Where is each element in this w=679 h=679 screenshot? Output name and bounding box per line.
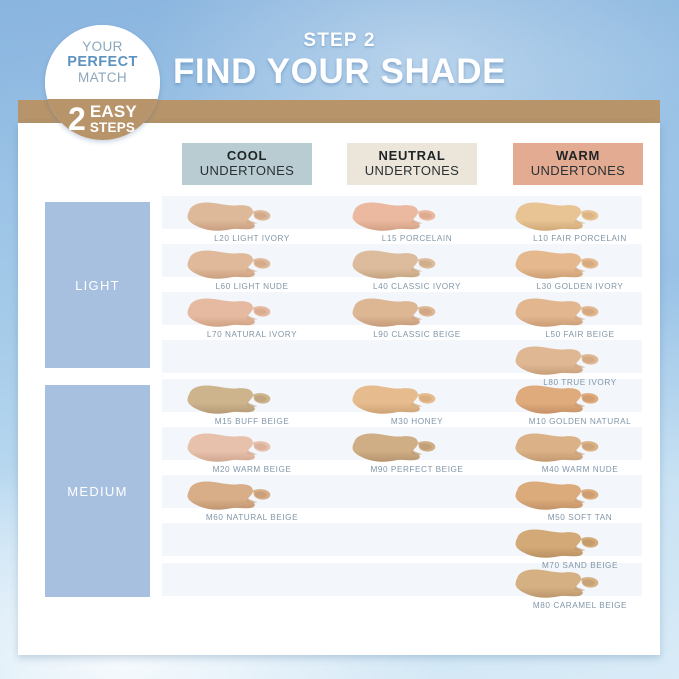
shade-swatch-icon	[347, 431, 439, 465]
shade-label: M15 BUFF BEIGE	[172, 417, 332, 426]
shade-swatch-icon	[510, 344, 602, 378]
shade-swatch-icon	[182, 200, 274, 234]
shade-label: M10 GOLDEN NATURAL	[500, 417, 660, 426]
shade-label: M30 HONEY	[337, 417, 497, 426]
shade-cell[interactable]: M90 PERFECT BEIGE	[337, 431, 497, 481]
shade-swatch-icon	[510, 527, 602, 561]
depth-group-light-label: LIGHT	[75, 278, 120, 293]
shade-swatch-icon	[347, 296, 439, 330]
shade-swatch-icon	[182, 431, 274, 465]
shade-swatch-icon	[347, 248, 439, 282]
shade-cell[interactable]: M15 BUFF BEIGE	[172, 383, 332, 433]
shade-cell[interactable]: L15 PORCELAIN	[337, 200, 497, 250]
shade-cell[interactable]: M40 WARM NUDE	[500, 431, 660, 481]
shade-swatch-icon	[510, 431, 602, 465]
undertone-name-cool: COOL	[227, 149, 267, 164]
shade-swatch-icon	[510, 479, 602, 513]
undertone-sub-cool: UNDERTONES	[200, 164, 295, 179]
perfect-match-badge: YOUR PERFECT MATCH 2 EASY STEPS	[45, 25, 160, 140]
shade-cell[interactable]: M60 NATURAL BEIGE	[172, 479, 332, 529]
badge-line-3: MATCH	[78, 70, 127, 85]
shade-swatch-icon	[510, 200, 602, 234]
shade-cell[interactable]: L10 FAIR PORCELAIN	[500, 200, 660, 250]
shade-label: M20 WARM BEIGE	[172, 465, 332, 474]
shade-label: L90 CLASSIC BEIGE	[337, 330, 497, 339]
shade-label: L50 FAIR BEIGE	[500, 330, 660, 339]
undertone-sub-neutral: UNDERTONES	[365, 164, 460, 179]
shade-cell[interactable]: M20 WARM BEIGE	[172, 431, 332, 481]
shade-swatch-icon	[510, 296, 602, 330]
shade-cell[interactable]: L30 GOLDEN IVORY	[500, 248, 660, 298]
shade-label: L60 LIGHT NUDE	[172, 282, 332, 291]
shade-label: L20 LIGHT IVORY	[172, 234, 332, 243]
shade-cell[interactable]: L90 CLASSIC BEIGE	[337, 296, 497, 346]
shade-swatch-icon	[510, 383, 602, 417]
shade-label: M90 PERFECT BEIGE	[337, 465, 497, 474]
shade-label: L10 FAIR PORCELAIN	[500, 234, 660, 243]
badge-top-half: YOUR PERFECT MATCH	[45, 25, 160, 99]
shade-cell[interactable]: L50 FAIR BEIGE	[500, 296, 660, 346]
shade-cell[interactable]: M50 SOFT TAN	[500, 479, 660, 529]
shade-label: L15 PORCELAIN	[337, 234, 497, 243]
shade-cell[interactable]: L20 LIGHT IVORY	[172, 200, 332, 250]
shade-cell[interactable]: L70 NATURAL IVORY	[172, 296, 332, 346]
shade-label: L40 CLASSIC IVORY	[337, 282, 497, 291]
depth-group-medium: MEDIUM	[45, 385, 150, 597]
shade-swatch-icon	[510, 567, 602, 601]
shade-cell[interactable]: M10 GOLDEN NATURAL	[500, 383, 660, 433]
undertone-name-neutral: NEUTRAL	[378, 149, 445, 164]
undertone-header-cool: COOL UNDERTONES	[182, 143, 312, 185]
shade-label: M80 CARAMEL BEIGE	[500, 601, 660, 610]
undertone-sub-warm: UNDERTONES	[531, 164, 626, 179]
shade-swatch-icon	[347, 200, 439, 234]
undertone-name-warm: WARM	[556, 149, 600, 164]
shade-swatch-icon	[182, 296, 274, 330]
shade-label: M40 WARM NUDE	[500, 465, 660, 474]
shade-swatch-icon	[182, 248, 274, 282]
shade-label: M60 NATURAL BEIGE	[172, 513, 332, 522]
shade-cell[interactable]: L40 CLASSIC IVORY	[337, 248, 497, 298]
badge-word-steps: STEPS	[90, 121, 137, 135]
badge-line-1: YOUR	[82, 39, 123, 54]
shade-swatch-icon	[510, 248, 602, 282]
shade-label: M50 SOFT TAN	[500, 513, 660, 522]
shade-swatch-icon	[182, 479, 274, 513]
shade-label: L30 GOLDEN IVORY	[500, 282, 660, 291]
badge-word-easy: EASY	[90, 103, 137, 120]
undertone-header-neutral: NEUTRAL UNDERTONES	[347, 143, 477, 185]
depth-group-medium-label: MEDIUM	[67, 484, 128, 499]
badge-step-words: EASY STEPS	[90, 103, 137, 134]
depth-group-light: LIGHT	[45, 202, 150, 368]
shade-swatch-icon	[182, 383, 274, 417]
badge-line-2: PERFECT	[67, 54, 137, 70]
shade-label: L70 NATURAL IVORY	[172, 330, 332, 339]
shade-cell[interactable]: M80 CARAMEL BEIGE	[500, 567, 660, 617]
badge-step-number: 2	[68, 103, 86, 135]
shade-cell[interactable]: L60 LIGHT NUDE	[172, 248, 332, 298]
shade-swatch-icon	[347, 383, 439, 417]
undertone-header-warm: WARM UNDERTONES	[513, 143, 643, 185]
badge-bottom-half: 2 EASY STEPS	[45, 99, 160, 140]
shade-cell[interactable]: M30 HONEY	[337, 383, 497, 433]
